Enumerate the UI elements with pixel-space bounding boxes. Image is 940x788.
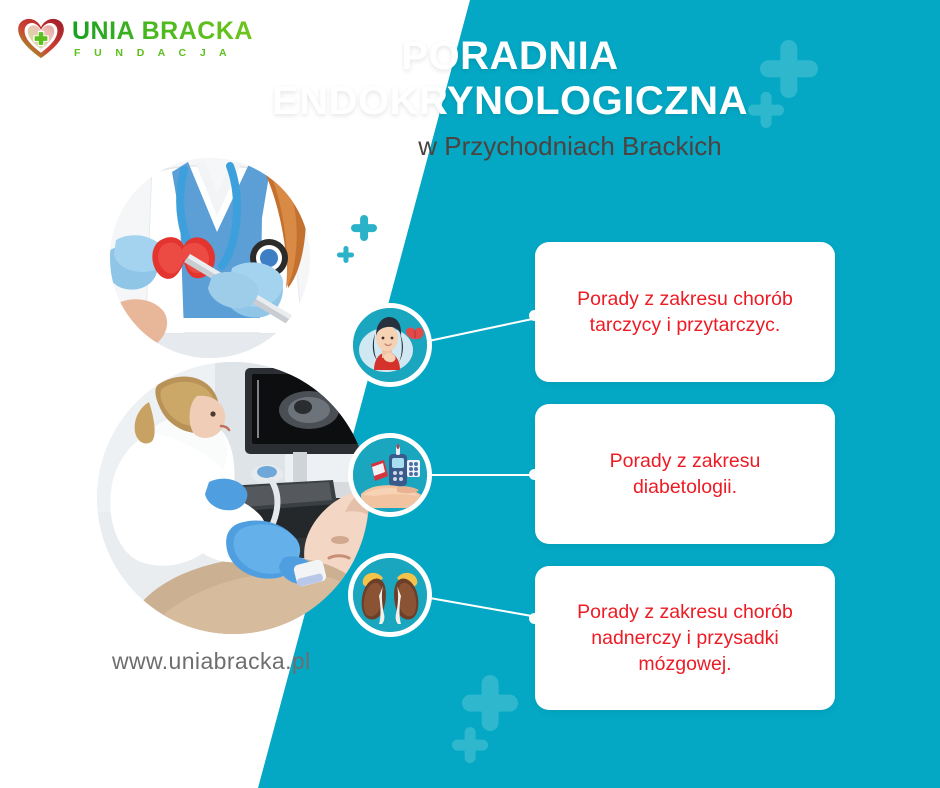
kidneys-adrenal-icon[interactable] — [348, 553, 432, 637]
service-card[interactable]: Porady z zakresu chorób nadnerczy i przy… — [535, 566, 835, 710]
infographic-poster: UNIA BRACKA F U N D A C J A PORADNIA END… — [0, 0, 940, 788]
glucometer-hand-icon[interactable] — [348, 433, 432, 517]
plus-decoration-icon — [337, 246, 354, 263]
service-card[interactable]: Porady z zakresu diabetologii. — [535, 404, 835, 544]
service-card-text: Porady z zakresu diabetologii. — [535, 448, 835, 500]
woman-thyroid-icon[interactable] — [348, 303, 432, 387]
service-card-text: Porady z zakresu chorób nadnerczy i przy… — [535, 599, 835, 677]
plus-decoration-icon — [351, 215, 377, 241]
poster-heading: PORADNIA ENDOKRYNOLOGICZNA w Przychodnia… — [230, 34, 790, 162]
connector-line-2 — [424, 474, 534, 476]
heading-line-2: ENDOKRYNOLOGICZNA — [230, 79, 790, 124]
heart-cross-icon — [18, 18, 64, 60]
thyroid-ultrasound-photo — [97, 362, 369, 634]
thyroid-model-photo — [103, 151, 317, 365]
brand-logo[interactable]: UNIA BRACKA F U N D A C J A — [18, 18, 253, 60]
logo-wordmark: UNIA BRACKA — [72, 19, 253, 44]
service-card[interactable]: Porady z zakresu chorób tarczycy i przyt… — [535, 242, 835, 382]
heading-subtitle: w Przychodniach Brackich — [230, 131, 790, 162]
service-card-text: Porady z zakresu chorób tarczycy i przyt… — [535, 286, 835, 338]
heading-line-1: PORADNIA — [230, 34, 790, 79]
plus-decoration-icon — [452, 727, 488, 763]
logo-subtitle: F U N D A C J A — [74, 48, 253, 59]
plus-decoration-icon — [462, 675, 518, 731]
website-url[interactable]: www.uniabracka.pl — [112, 648, 311, 675]
